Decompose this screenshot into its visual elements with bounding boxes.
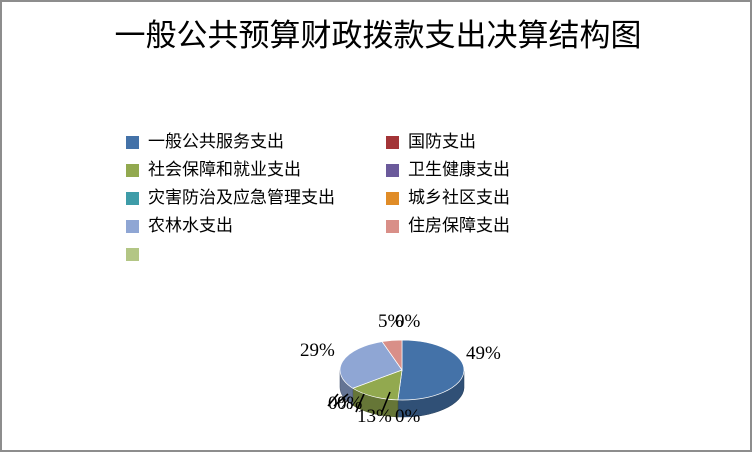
- legend-swatch-general-public-service: [126, 136, 139, 149]
- legend-swatch-health: [386, 164, 399, 177]
- legend-item-urban-rural-community[interactable]: 城乡社区支出: [386, 184, 566, 212]
- legend-label-disaster-emergency-management: 灾害防治及应急管理支出: [148, 188, 335, 208]
- legend-label-agriculture-forestry-water: 农林水支出: [148, 216, 233, 236]
- legend-label-urban-rural-community: 城乡社区支出: [408, 188, 510, 208]
- page-title: 一般公共预算财政拨款支出决算结构图: [72, 16, 684, 56]
- legend-swatch-national-defense: [386, 136, 399, 149]
- legend-label-housing-security: 住房保障支出: [408, 216, 510, 236]
- legend-item-general-public-service[interactable]: 一般公共服务支出: [126, 128, 386, 156]
- legend-item-health[interactable]: 卫生健康支出: [386, 156, 566, 184]
- legend-label-health: 卫生健康支出: [408, 160, 510, 180]
- legend-item-housing-security[interactable]: 住房保障支出: [386, 212, 566, 240]
- legend-label-social-security-employment: 社会保障和就业支出: [148, 160, 301, 180]
- pie-label-agriculture-forestry: 29%: [300, 341, 335, 361]
- pie-label-disaster-emergency: 0%: [395, 407, 420, 427]
- legend-column-left: 一般公共服务支出 社会保障和就业支出 灾害防治及应急管理支出 农林水支出: [126, 128, 386, 268]
- legend-swatch-disaster-emergency-management: [126, 192, 139, 205]
- pie-label-housing-security: 5%: [378, 312, 403, 332]
- legend-item-agriculture-forestry-water[interactable]: 农林水支出: [126, 212, 386, 240]
- legend-item-social-security-employment[interactable]: 社会保障和就业支出: [126, 156, 386, 184]
- legend-item-unlabeled[interactable]: [126, 240, 386, 268]
- legend-swatch-housing-security: [386, 220, 399, 233]
- legend-swatch-unlabeled: [126, 248, 139, 261]
- legend-label-general-public-service: 一般公共服务支出: [148, 132, 284, 152]
- legend-label-national-defense: 国防支出: [408, 132, 476, 152]
- chart-page: 一般公共预算财政拨款支出决算结构图 一般公共服务支出 社会保障和就业支出 灾害防…: [0, 0, 752, 452]
- legend-item-national-defense[interactable]: 国防支出: [386, 128, 566, 156]
- pie-top-faces: [340, 340, 464, 400]
- pie-label-social-security: 13%: [357, 407, 392, 427]
- pie-chart: 49% 0% 13% 0% 0% 0% 29% 5%: [290, 302, 530, 442]
- legend-swatch-social-security-employment: [126, 164, 139, 177]
- legend-item-disaster-emergency-management[interactable]: 灾害防治及应急管理支出: [126, 184, 386, 212]
- legend-swatch-agriculture-forestry-water: [126, 220, 139, 233]
- pie-label-general-public-service: 49%: [466, 344, 501, 364]
- pie-label-health: 0%: [328, 394, 353, 414]
- legend-swatch-urban-rural-community: [386, 192, 399, 205]
- legend-column-right: 国防支出 卫生健康支出 城乡社区支出 住房保障支出: [386, 128, 566, 240]
